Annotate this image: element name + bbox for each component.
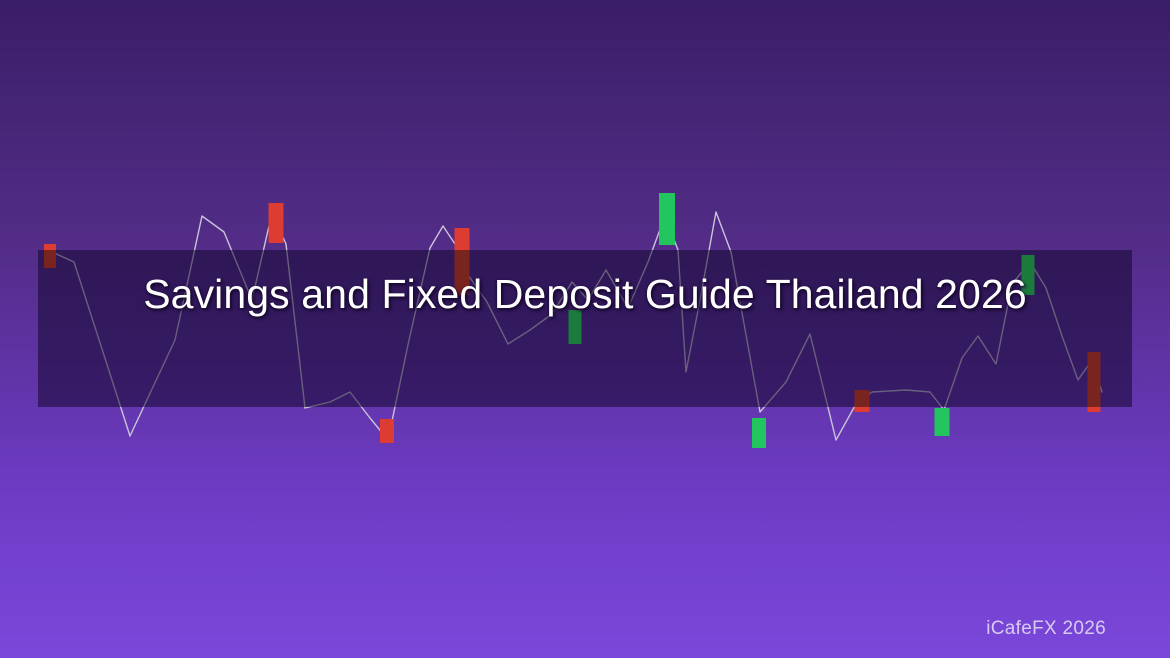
watermark-label: iCafeFX 2026 xyxy=(986,618,1106,640)
page-title: Savings and Fixed Deposit Guide Thailand… xyxy=(0,268,1170,320)
banner-canvas: Savings and Fixed Deposit Guide Thailand… xyxy=(0,0,1170,658)
price-line-path xyxy=(52,212,1102,440)
price-chart xyxy=(0,0,1170,658)
